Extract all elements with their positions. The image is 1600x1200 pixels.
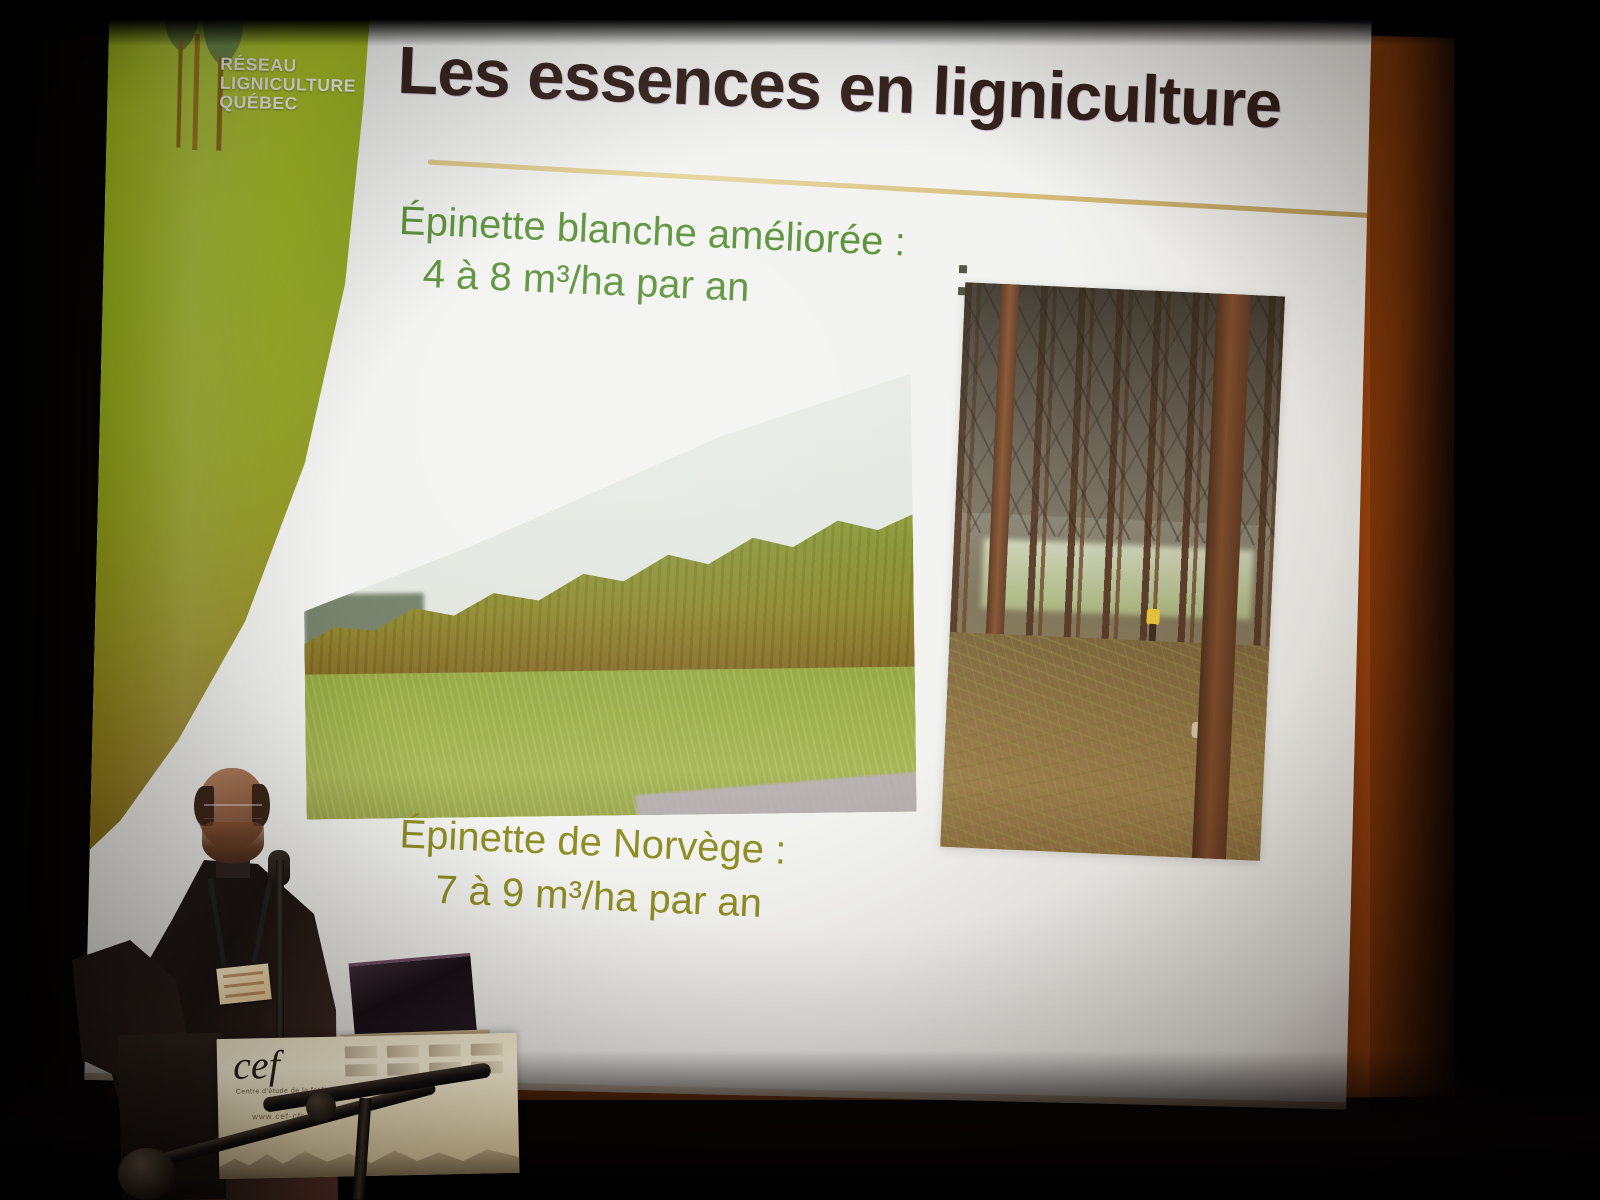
photo2-person-vest [1146, 609, 1160, 626]
boom-arm-counterweight [118, 1148, 176, 1200]
sponsor-logo [345, 1046, 377, 1059]
logo-line-3: QUÉBEC [219, 93, 379, 116]
ceiling-darkness [0, 0, 1600, 46]
photo-plantation-row [301, 372, 917, 820]
cef-forest-silhouette [219, 1143, 520, 1179]
photo2-person-figure [1145, 609, 1159, 644]
slide-title: Les essences en ligniculture [396, 32, 1372, 149]
cef-logo: cef [233, 1046, 280, 1085]
name-badge [216, 963, 271, 1004]
bullet-square-icon [959, 265, 967, 273]
photo-norway-spruce-stand [940, 282, 1285, 861]
sponsor-logo [429, 1044, 461, 1057]
boom-arm-joint [306, 1092, 336, 1122]
sponsor-logo [471, 1043, 503, 1056]
glasses-icon [204, 804, 262, 819]
photo-scene: RÉSEAU LIGNICULTURE QUÉBEC Les essences … [0, 0, 1600, 1200]
logo-text: RÉSEAU LIGNICULTURE QUÉBEC [219, 55, 380, 116]
microphone-stand [276, 860, 284, 1040]
wall-shadow-right [1370, 0, 1600, 1200]
sponsor-logo [387, 1045, 419, 1058]
speaker-beard [202, 822, 264, 864]
sponsor-logo [345, 1064, 377, 1077]
